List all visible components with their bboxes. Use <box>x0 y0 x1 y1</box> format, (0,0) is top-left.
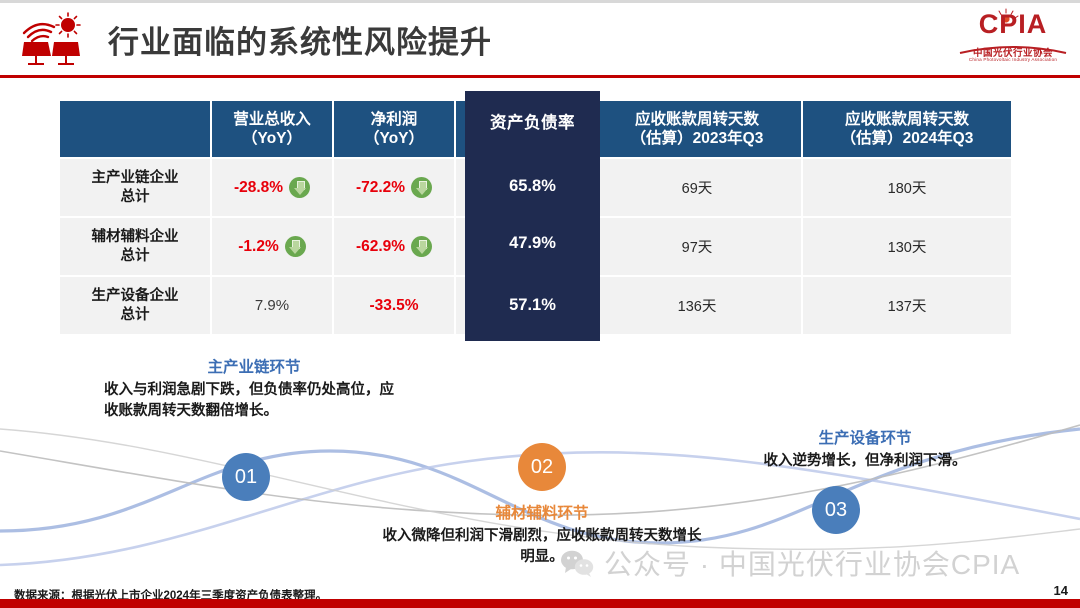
cell-revenue-yoy-value: -1.2% <box>238 238 279 256</box>
solar-panel-icon <box>18 11 88 71</box>
risk-metrics-table: 营业总收入 （YoY） 净利润 （YoY） 应收账款周转天数 （估算）2023年… <box>58 99 1013 336</box>
row-label-line2: 总计 <box>62 247 208 266</box>
col-header-dso-2024q3-line1: 应收账款周转天数 <box>805 110 1009 129</box>
callout-production-equipment: 生产设备环节 收入逆势增长，但净利润下滑。 <box>700 426 1030 472</box>
col-header-revenue-yoy: 营业总收入 （YoY） <box>212 101 332 157</box>
wechat-watermark: 公众号 · 中国光伏行业协会CPIA <box>560 543 1020 583</box>
col-header-revenue-yoy-line2: （YoY） <box>214 129 330 148</box>
col-header-debt-ratio <box>456 101 591 157</box>
row-label-production-equipment: 生产设备企业 总计 <box>60 277 210 334</box>
col-header-revenue-yoy-line1: 营业总收入 <box>214 110 330 129</box>
callout-body: 收入逆势增长，但净利润下滑。 <box>700 451 1030 472</box>
cell-dso-2023q3: 136天 <box>593 277 801 334</box>
callout-marker-02[interactable]: 02 <box>518 443 566 491</box>
cell-net-profit-yoy: -72.2% <box>334 159 454 216</box>
table-header-row: 营业总收入 （YoY） 净利润 （YoY） 应收账款周转天数 （估算）2023年… <box>60 101 1011 157</box>
cell-revenue-yoy: -28.8% <box>212 159 332 216</box>
col-header-dso-2023q3-line1: 应收账款周转天数 <box>595 110 799 129</box>
header-divider <box>0 75 1080 78</box>
col-header-dso-2024q3-line2: （估算）2024年Q3 <box>805 129 1009 148</box>
col-header-net-profit-yoy-line2: （YoY） <box>336 129 452 148</box>
arrow-down-icon <box>285 236 306 257</box>
table-row: 辅材辅料企业 总计 -1.2% -62.9% <box>60 218 1011 275</box>
cell-dso-2024q3: 130天 <box>803 218 1011 275</box>
arrow-down-icon <box>411 177 432 198</box>
row-label-line1: 生产设备企业 <box>62 287 208 306</box>
row-label-line2: 总计 <box>62 188 208 207</box>
cell-dso-2024q3: 180天 <box>803 159 1011 216</box>
cell-revenue-yoy: -1.2% <box>212 218 332 275</box>
callout-title: 主产业链环节 <box>104 355 404 377</box>
col-header-net-profit-yoy-line1: 净利润 <box>336 110 452 129</box>
cell-debt-ratio <box>456 277 591 334</box>
footer-bar <box>0 599 1080 608</box>
page-number: 14 <box>1054 583 1068 598</box>
table-row: 生产设备企业 总计 7.9% -33.5% 136天 137天 <box>60 277 1011 334</box>
page-title: 行业面临的系统性风险提升 <box>108 17 492 62</box>
row-label-line1: 主产业链企业 <box>62 169 208 188</box>
col-header-dso-2023q3: 应收账款周转天数 （估算）2023年Q3 <box>593 101 801 157</box>
callout-title: 生产设备环节 <box>700 426 1030 448</box>
cell-dso-2024q3: 137天 <box>803 277 1011 334</box>
cell-dso-2023q3: 97天 <box>593 218 801 275</box>
table-row: 主产业链企业 总计 -28.8% -72.2% <box>60 159 1011 216</box>
cell-revenue-yoy: 7.9% <box>212 277 332 334</box>
col-header-net-profit-yoy: 净利润 （YoY） <box>334 101 454 157</box>
col-header-category <box>60 101 210 157</box>
cell-net-profit-yoy-value: -72.2% <box>356 179 405 197</box>
cell-revenue-yoy-value: -28.8% <box>234 179 283 197</box>
risk-metrics-table-wrapper: 营业总收入 （YoY） 净利润 （YoY） 应收账款周转天数 （估算）2023年… <box>58 99 1013 336</box>
slide-header: 行业面临的系统性风险提升 CPIA 中国光伏行业协会 China Photovo… <box>0 3 1080 79</box>
callout-body: 收入与利润急剧下跌，但负债率仍处高位，应收账款周转天数翻倍增长。 <box>104 380 404 422</box>
callout-title: 辅材辅料环节 <box>382 501 702 523</box>
arrow-down-icon <box>411 236 432 257</box>
cell-dso-2023q3: 69天 <box>593 159 801 216</box>
cpia-name-en: China Photovoltaic Industry Association <box>954 57 1072 62</box>
wechat-icon <box>560 549 594 577</box>
slide-canvas: 行业面临的系统性风险提升 CPIA 中国光伏行业协会 China Photovo… <box>0 0 1080 608</box>
cell-net-profit-yoy: -33.5% <box>334 277 454 334</box>
row-label-main-chain: 主产业链企业 总计 <box>60 159 210 216</box>
cpia-acronym: CPIA <box>954 11 1072 38</box>
arrow-down-icon <box>289 177 310 198</box>
col-header-dso-2023q3-line2: （估算）2023年Q3 <box>595 129 799 148</box>
cell-debt-ratio <box>456 218 591 275</box>
row-label-line2: 总计 <box>62 306 208 325</box>
cell-debt-ratio <box>456 159 591 216</box>
callout-marker-03[interactable]: 03 <box>812 486 860 534</box>
watermark-text: 公众号 · 中国光伏行业协会CPIA <box>604 543 1020 583</box>
callout-marker-01[interactable]: 01 <box>222 453 270 501</box>
cell-net-profit-yoy-value: -62.9% <box>356 238 405 256</box>
callout-main-chain: 主产业链环节 收入与利润急剧下跌，但负债率仍处高位，应收账款周转天数翻倍增长。 <box>104 355 404 422</box>
row-label-line1: 辅材辅料企业 <box>62 228 208 247</box>
cell-net-profit-yoy: -62.9% <box>334 218 454 275</box>
row-label-auxiliary-materials: 辅材辅料企业 总计 <box>60 218 210 275</box>
col-header-dso-2024q3: 应收账款周转天数 （估算）2024年Q3 <box>803 101 1011 157</box>
